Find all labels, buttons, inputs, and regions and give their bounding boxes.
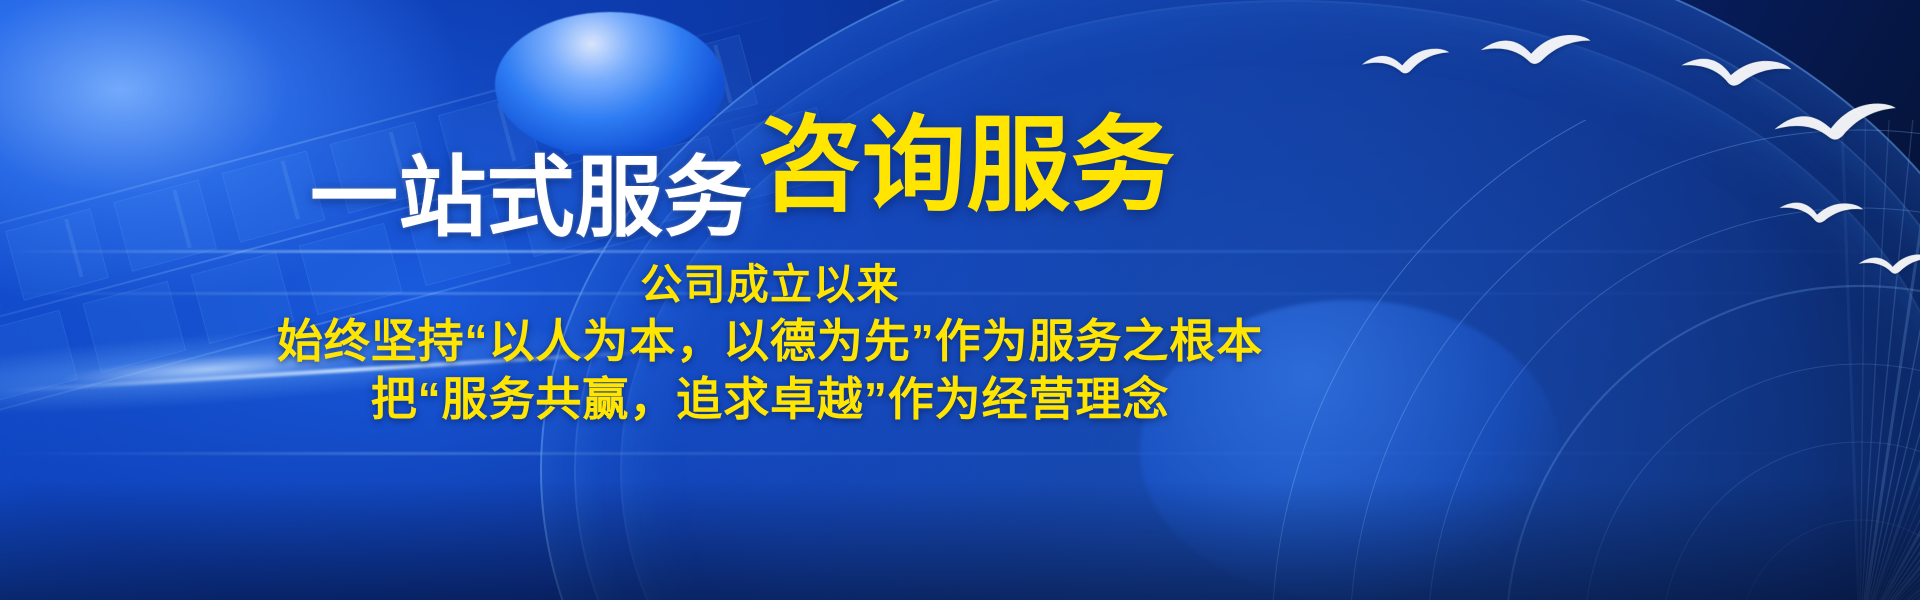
headline: 一站式服务咨询服务 [0,74,1920,224]
bottom-vignette [0,480,1920,600]
headline-primary: 一站式服务 [310,154,752,242]
service-banner: 一站式服务咨询服务 公司成立以来 始终坚持“以人为本，以德为先”作为服务之根本 … [0,0,1920,600]
seagull-icon [1478,29,1595,72]
horizon-line-1 [0,250,1920,253]
headline-accent: 咨询服务 [758,114,1175,218]
subtitle-line-3: 把“服务共赢，追求卓越”作为经营理念 [277,370,1263,428]
subtitle-line-2: 始终坚持“以人为本，以德为先”作为服务之根本 [277,312,1263,370]
horizon-line-3 [0,452,1920,455]
subtitle-line-1: 公司成立以来 [277,258,1263,312]
subtitle-block: 公司成立以来 始终坚持“以人为本，以德为先”作为服务之根本 把“服务共赢，追求卓… [0,258,1920,428]
